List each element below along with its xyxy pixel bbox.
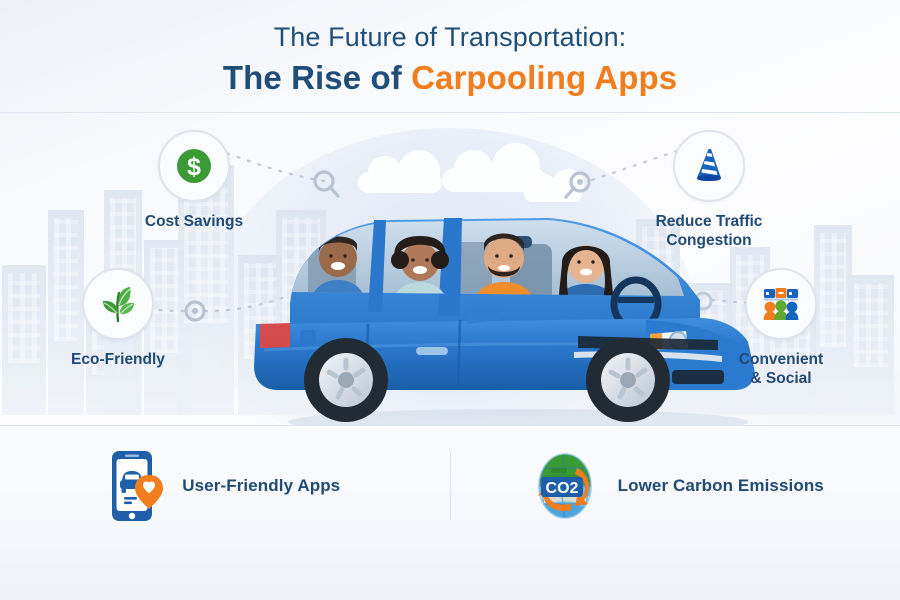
band-label-lower-carbon-emissions: Lower Carbon Emissions	[618, 476, 824, 496]
feature-reduce-traffic-congestion[interactable]: Reduce Traffic Congestion	[634, 130, 784, 251]
feature-eco-friendly[interactable]: Eco-Friendly	[43, 268, 193, 370]
co2-globe-recycle-icon: CO2	[527, 448, 603, 524]
car-door-handle	[416, 347, 448, 355]
people-group-icon	[759, 282, 803, 326]
feature-label-eco-friendly: Eco-Friendly	[43, 351, 193, 370]
badge-cost-savings: $	[158, 130, 230, 202]
title-line-2-accent: Carpooling Apps	[411, 59, 677, 96]
feature-convenient-social[interactable]: Convenient & Social	[706, 268, 856, 389]
title-line-2-plain: The Rise of	[223, 59, 411, 96]
infographic-poster: The Future of Transportation: The Rise o…	[0, 0, 900, 600]
title-line-1: The Future of Transportation:	[0, 0, 900, 53]
svg-text:$: $	[187, 153, 201, 181]
route-pin-top-left	[315, 172, 338, 196]
poster-header: The Future of Transportation: The Rise o…	[0, 0, 900, 113]
title-line-2: The Rise of Carpooling Apps	[0, 53, 900, 97]
feature-cost-savings[interactable]: $ Cost Savings	[119, 130, 269, 232]
feature-label-cost-savings: Cost Savings	[119, 213, 269, 232]
leaves-icon	[97, 283, 139, 325]
dollar-circle-icon: $	[173, 145, 215, 187]
phone-car-pin-icon	[109, 448, 167, 524]
badge-reduce-traffic	[673, 130, 745, 202]
badge-convenient-social	[745, 268, 817, 340]
band-item-user-friendly-apps[interactable]: User-Friendly Apps	[0, 448, 450, 524]
feature-label-convenient-social: Convenient & Social	[706, 351, 856, 389]
band-item-lower-carbon-emissions[interactable]: CO2 Lower Carbon Emissions	[451, 448, 900, 524]
band-label-user-friendly-apps: User-Friendly Apps	[182, 476, 340, 496]
co2-badge-text: CO2	[545, 480, 578, 497]
car-wheel-front	[586, 338, 670, 422]
feature-label-reduce-traffic: Reduce Traffic Congestion	[634, 213, 784, 251]
car-wheel-rear	[304, 338, 388, 422]
traffic-cone-icon	[688, 145, 730, 187]
route-pin-top-right	[566, 173, 589, 197]
car-tail-light	[260, 323, 290, 348]
bottom-feature-band: User-Friendly Apps	[0, 425, 900, 547]
badge-eco-friendly	[82, 268, 154, 340]
poster-footer-space	[0, 546, 900, 600]
